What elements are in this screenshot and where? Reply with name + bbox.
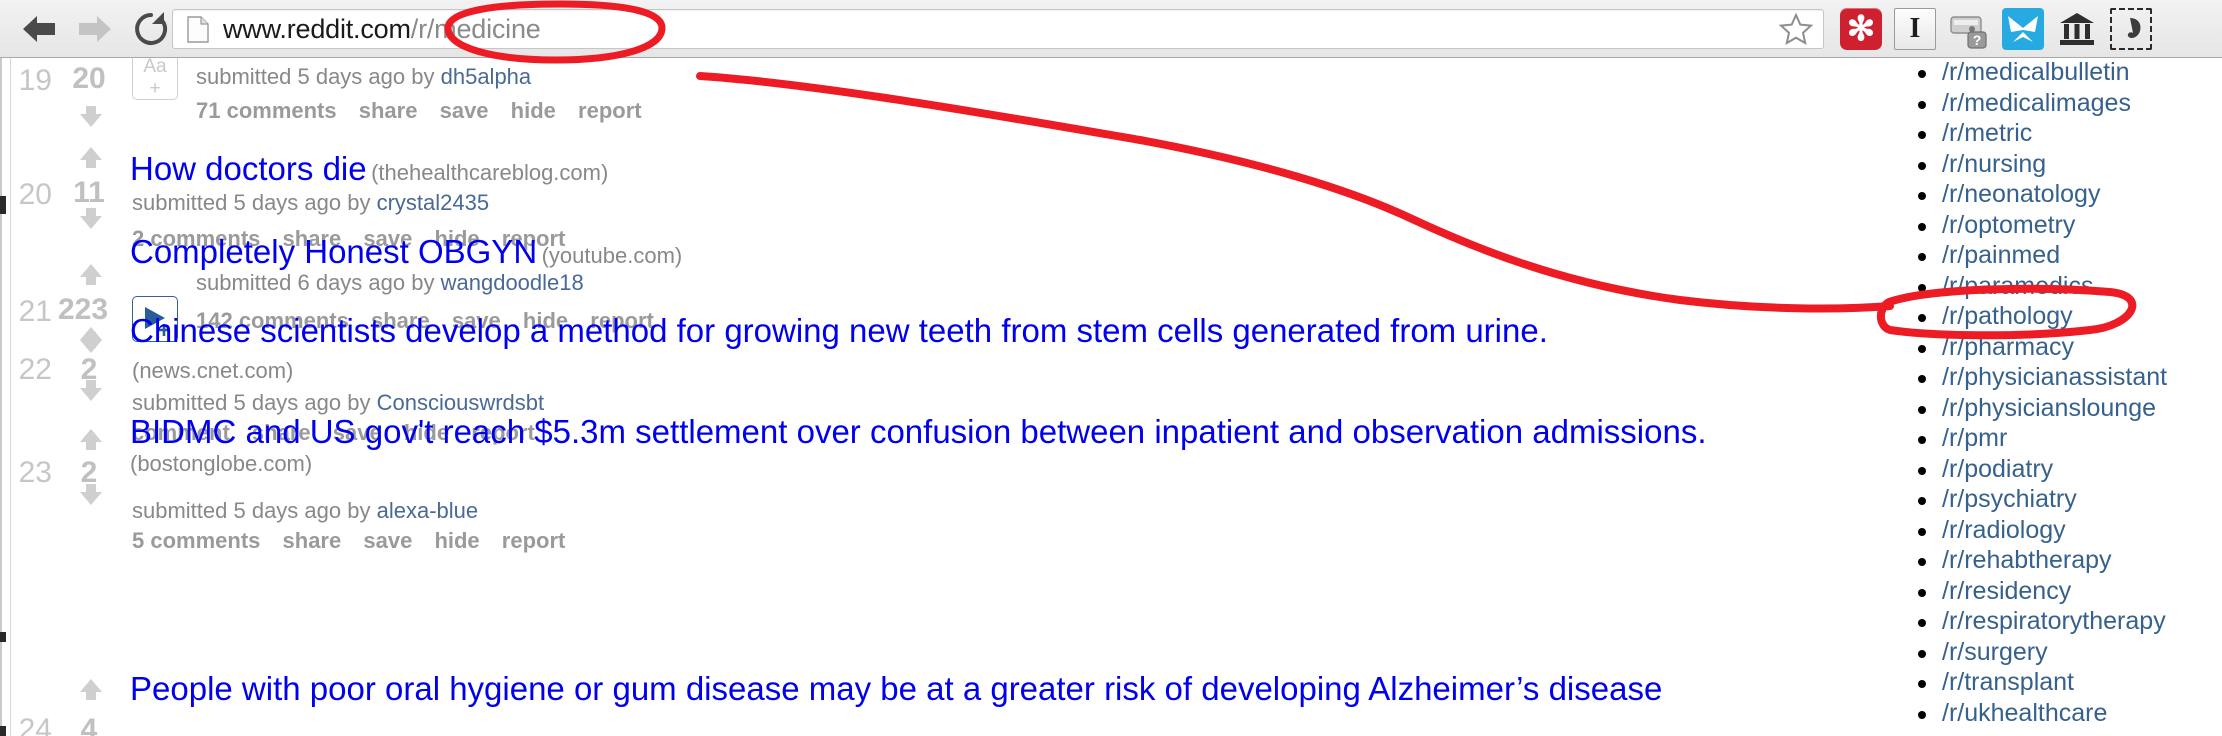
- sidebar-item-label: /r/pmr: [1942, 424, 2007, 452]
- bullet-icon: [1918, 467, 1926, 475]
- post-title-line: People with poor oral hygiene or gum dis…: [130, 670, 1662, 708]
- bullet-icon: [1918, 345, 1926, 353]
- sidebar-item-metric[interactable]: /r/metric: [1900, 119, 2222, 150]
- bullet-icon: [1918, 558, 1926, 566]
- upvote-arrow-icon[interactable]: [78, 678, 104, 702]
- post-author-link[interactable]: crystal2435: [377, 190, 490, 215]
- bullet-icon: [1918, 284, 1926, 292]
- scanner-extension-icon[interactable]: ?: [1948, 8, 1990, 50]
- post-score: 20: [56, 62, 122, 96]
- post-meta: submitted 6 days ago by wangdoodle18: [196, 270, 584, 296]
- post-score: 11: [56, 176, 122, 210]
- bullet-icon: [1918, 223, 1926, 231]
- sidebar-item-label: /r/psychiatry: [1942, 485, 2077, 513]
- post-domain: (bostonglobe.com): [130, 451, 312, 476]
- sidebar-item-rehabtherapy[interactable]: /r/rehabtherapy: [1900, 546, 2222, 577]
- post-meta: submitted 5 days ago by alexa-blue: [132, 498, 478, 524]
- clipped-extension-icon[interactable]: [2110, 8, 2152, 50]
- sidebar-item-label: /r/physicianslounge: [1942, 394, 2156, 422]
- bullet-icon: [1918, 436, 1926, 444]
- post-title-link[interactable]: People with poor oral hygiene or gum dis…: [130, 670, 1662, 707]
- bullet-icon: [1918, 650, 1926, 658]
- sidebar-item-label: /r/rehabtherapy: [1942, 546, 2112, 574]
- share-link[interactable]: share: [283, 528, 342, 553]
- sidebar-item-transplant[interactable]: /r/transplant: [1900, 668, 2222, 699]
- navigation-buttons: [0, 6, 174, 52]
- post-rank: 23: [6, 456, 52, 490]
- url-host: www.reddit.com: [223, 14, 411, 44]
- post-rank: 24: [6, 713, 52, 736]
- hide-link[interactable]: hide: [511, 98, 556, 123]
- post-actions: 71 comments share save hide report: [196, 98, 658, 124]
- bullet-icon: [1918, 711, 1926, 719]
- post-actions: 5 comments share save hide report: [132, 528, 581, 554]
- save-link[interactable]: save: [440, 98, 489, 123]
- post-rank: 19: [6, 64, 52, 98]
- post-title-link[interactable]: Completely Honest OBGYN: [130, 233, 537, 270]
- document-icon: [187, 16, 209, 42]
- svg-text:?: ?: [1973, 32, 1982, 48]
- bullet-icon: [1918, 406, 1926, 414]
- submitted-text: submitted 5 days ago by: [196, 64, 434, 89]
- sidebar-item-label: /r/residency: [1942, 577, 2071, 605]
- hide-link[interactable]: hide: [434, 528, 479, 553]
- submitted-text: submitted 6 days ago by: [196, 270, 434, 295]
- bullet-icon: [1918, 314, 1926, 322]
- scroll-tick-3: [0, 632, 6, 642]
- thumbnail-plus: +: [133, 77, 177, 99]
- post-thumbnail-text[interactable]: Aa +: [132, 58, 178, 100]
- sidebar-item-label: /r/radiology: [1942, 516, 2066, 544]
- post-meta: submitted 5 days ago by crystal2435: [132, 190, 489, 216]
- save-link[interactable]: save: [363, 528, 412, 553]
- sidebar-item-label: /r/medicalbulletin: [1942, 58, 2130, 86]
- sidebar-item-label: /r/physicianassistant: [1942, 363, 2167, 391]
- sidebar-item-residency[interactable]: /r/residency: [1900, 577, 2222, 608]
- sidebar-item-label: /r/painmed: [1942, 241, 2060, 269]
- bank-extension-icon[interactable]: [2056, 8, 2098, 50]
- submitted-text: submitted 5 days ago by: [132, 390, 370, 415]
- report-link[interactable]: report: [578, 98, 642, 123]
- sidebar-item-label: /r/neonatology: [1942, 180, 2100, 208]
- sidebar-item-pharmacy[interactable]: /r/pharmacy: [1900, 333, 2222, 364]
- post-rank: 22: [6, 353, 52, 387]
- browser-toolbar: www.reddit.com/r/medicine ✻ I ?: [0, 0, 2222, 58]
- bullet-icon: [1918, 375, 1926, 383]
- bullet-icon: [1918, 680, 1926, 688]
- bullet-icon: [1918, 101, 1926, 109]
- sidebar-item-optometry[interactable]: /r/optometry: [1900, 211, 2222, 242]
- upvote-arrow-icon[interactable]: [78, 146, 104, 170]
- post-author-link[interactable]: Consciouswrdsbt: [377, 390, 545, 415]
- sidebar-item-label: /r/nursing: [1942, 150, 2046, 178]
- downvote-arrow-icon[interactable]: [78, 482, 104, 506]
- post-title-link[interactable]: How doctors die: [130, 150, 367, 187]
- upvote-arrow-icon[interactable]: [78, 263, 104, 287]
- sidebar-item-psychiatry[interactable]: /r/psychiatry: [1900, 485, 2222, 516]
- bullet-icon: [1918, 192, 1926, 200]
- post-title-line: Chinese scientists develop a method for …: [130, 312, 1548, 350]
- post-author-link[interactable]: alexa-blue: [377, 498, 479, 523]
- post-title-line: Completely Honest OBGYN (youtube.com): [130, 233, 682, 271]
- sidebar-item-label: /r/ukhealthcare: [1942, 699, 2107, 727]
- page-content: 19 20 Aa + submitted 5 days ago by dh5al…: [0, 58, 2222, 736]
- sidebar-item-radiology[interactable]: /r/radiology: [1900, 516, 2222, 547]
- sidebar-item-physicianslounge[interactable]: /r/physicianslounge: [1900, 394, 2222, 425]
- sidebar-item-medicalbulletin[interactable]: /r/medicalbulletin: [1900, 58, 2222, 89]
- thumbnail-label: Aa: [133, 58, 177, 77]
- bullet-icon: [1918, 162, 1926, 170]
- bullet-icon: [1918, 131, 1926, 139]
- post-domain: (youtube.com): [542, 243, 683, 268]
- content-left-border: [10, 58, 11, 736]
- sidebar-item-respiratorytherapy[interactable]: /r/respiratorytherapy: [1900, 607, 2222, 638]
- sidebar-item-label: /r/pharmacy: [1942, 333, 2074, 361]
- forward-arrow-icon[interactable]: [72, 6, 118, 52]
- back-arrow-icon[interactable]: [16, 6, 62, 52]
- post-title-link[interactable]: Chinese scientists develop a method for …: [130, 312, 1548, 349]
- post-rank: 21: [6, 295, 52, 329]
- url-path: /r/medicine: [411, 14, 541, 44]
- sidebar-item-pmr[interactable]: /r/pmr: [1900, 424, 2222, 455]
- downvote-arrow-icon[interactable]: [78, 104, 104, 128]
- instapaper-extension-icon[interactable]: I: [1894, 8, 1936, 50]
- downvote-arrow-icon[interactable]: [78, 378, 104, 402]
- sidebar-item-nursing[interactable]: /r/nursing: [1900, 150, 2222, 181]
- comments-link[interactable]: 71 comments: [196, 98, 337, 123]
- sidebar-item-painmed[interactable]: /r/painmed: [1900, 241, 2222, 272]
- report-link[interactable]: report: [502, 528, 566, 553]
- sidebar-item-label: /r/surgery: [1942, 638, 2048, 666]
- sidebar-item-label: /r/metric: [1942, 119, 2032, 147]
- sidebar-item-label: /r/pathology: [1942, 302, 2073, 330]
- comments-link[interactable]: 5 comments: [132, 528, 260, 553]
- sidebar-item-label: /r/podiatry: [1942, 455, 2053, 483]
- post-title-line: How doctors die (thehealthcareblog.com): [130, 150, 608, 188]
- bullet-icon: [1918, 253, 1926, 261]
- submitted-text: submitted 5 days ago by: [132, 190, 370, 215]
- address-bar[interactable]: www.reddit.com/r/medicine: [172, 9, 1824, 49]
- sidebar-item-paramedics[interactable]: /r/paramedics: [1900, 272, 2222, 303]
- sidebar-item-podiatry[interactable]: /r/podiatry: [1900, 455, 2222, 486]
- sidebar-item-pathology[interactable]: /r/pathology: [1900, 302, 2222, 333]
- bullet-icon: [1918, 70, 1926, 78]
- sidebar-item-surgery[interactable]: /r/surgery: [1900, 638, 2222, 669]
- post-rank: 20: [6, 178, 52, 212]
- star-icon[interactable]: [1779, 12, 1813, 46]
- sidebar-item-ukhealthcare[interactable]: /r/ukhealthcare: [1900, 699, 2222, 730]
- downvote-arrow-icon[interactable]: [78, 206, 104, 230]
- reload-icon[interactable]: [128, 6, 174, 52]
- sidebar-item-label: /r/medicalimages: [1942, 89, 2131, 117]
- post-domain: (thehealthcareblog.com): [371, 160, 608, 185]
- subreddit-sidebar: /r/medicalbulletin /r/medicalimages /r/m…: [1900, 58, 2222, 729]
- asterisk-extension-icon[interactable]: ✻: [1840, 8, 1882, 50]
- xmarks-extension-icon[interactable]: [2002, 8, 2044, 50]
- post-author-link[interactable]: dh5alpha: [441, 64, 532, 89]
- sidebar-item-label: /r/optometry: [1942, 211, 2075, 239]
- sidebar-item-neonatology[interactable]: /r/neonatology: [1900, 180, 2222, 211]
- upvote-arrow-icon[interactable]: [78, 428, 104, 452]
- post-domain: (news.cnet.com): [132, 358, 293, 384]
- sidebar-item-label: /r/respiratorytherapy: [1942, 607, 2166, 635]
- extension-toolbar: ✻ I ?: [1840, 0, 2152, 58]
- post-title-link[interactable]: BIDMC and US gov't reach $5.3m settlemen…: [130, 413, 1707, 450]
- bullet-icon: [1918, 497, 1926, 505]
- url-text: www.reddit.com/r/medicine: [223, 14, 541, 45]
- post-score: 4: [56, 713, 122, 736]
- bullet-icon: [1918, 528, 1926, 536]
- share-link[interactable]: share: [359, 98, 418, 123]
- submitted-text: submitted 5 days ago by: [132, 498, 370, 523]
- sidebar-item-physicianassistant[interactable]: /r/physicianassistant: [1900, 363, 2222, 394]
- post-title-line: BIDMC and US gov't reach $5.3m settlemen…: [130, 413, 1730, 477]
- bullet-icon: [1918, 619, 1926, 627]
- sidebar-item-medicalimages[interactable]: /r/medicalimages: [1900, 89, 2222, 120]
- post-author-link[interactable]: wangdoodle18: [441, 270, 584, 295]
- bullet-icon: [1918, 589, 1926, 597]
- upvote-arrow-icon[interactable]: [78, 326, 104, 350]
- post-score: 223: [50, 293, 116, 327]
- sidebar-item-label: /r/paramedics: [1942, 272, 2093, 300]
- sidebar-item-label: /r/transplant: [1942, 668, 2074, 696]
- post-meta: submitted 5 days ago by dh5alpha: [196, 64, 531, 90]
